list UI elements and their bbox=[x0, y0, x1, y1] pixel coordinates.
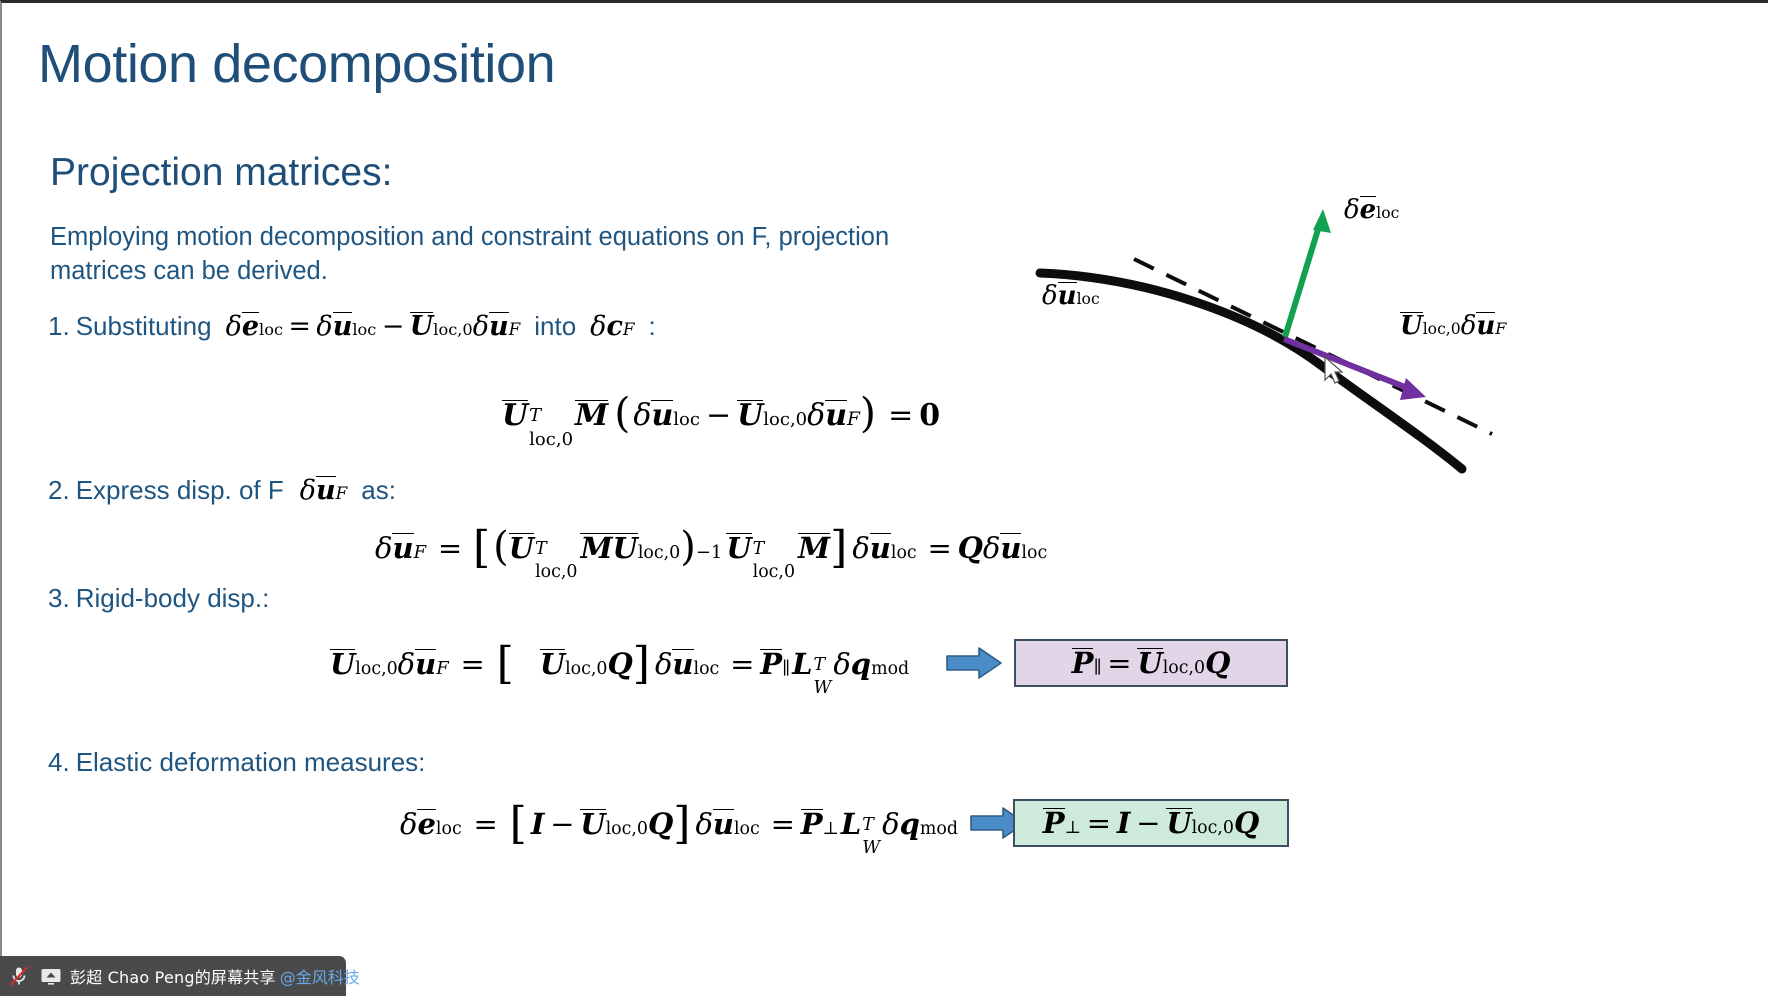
diagram-label-local: δuloc bbox=[1042, 281, 1100, 311]
step-3: 3. Rigid-body disp.: bbox=[48, 583, 269, 614]
tangent-dashed-line bbox=[1134, 259, 1492, 434]
diagram-label-rigid: Uloc,0δuF bbox=[1400, 311, 1506, 341]
step-1-trailing: into bbox=[534, 311, 576, 342]
section-heading: Projection matrices: bbox=[50, 151, 392, 195]
step-1-inline-math-rhs: δcF bbox=[590, 311, 634, 342]
diagram-svg bbox=[1022, 181, 1768, 481]
step-4-label: Elastic deformation measures: bbox=[76, 747, 426, 778]
equation-4: δeloc = [ I − Uloc,0Q ] δuloc = P⊥ LTW δ… bbox=[400, 803, 958, 857]
slide-title: Motion decomposition bbox=[38, 35, 555, 93]
step-2-label: Express disp. of F bbox=[76, 475, 284, 506]
block-arrow-right-1 bbox=[946, 646, 1002, 680]
step-3-number: 3. bbox=[48, 583, 70, 614]
step-1-label: Substituting bbox=[76, 311, 212, 342]
result-parallel-math: P∥ = Uloc,0Q bbox=[1072, 646, 1231, 680]
equation-1: UTloc,0 M ( δuloc − Uloc,0δuF ) = 0 bbox=[502, 395, 940, 448]
step-2-number: 2. bbox=[48, 475, 70, 506]
step-1-inline-math-lhs: δeloc = δuloc − Uloc,0δuF bbox=[226, 311, 521, 342]
step-4-number: 4. bbox=[48, 747, 70, 778]
screen-share-icon[interactable] bbox=[38, 963, 64, 989]
equation-3: Uloc,0δuF = [ Uloc,0Q ] δuloc = P∥ LTW δ… bbox=[330, 643, 909, 697]
diagram-label-elastic: δeloc bbox=[1344, 195, 1399, 225]
step-3-label: Rigid-body disp.: bbox=[76, 583, 270, 614]
intro-paragraph: Employing motion decomposition and const… bbox=[50, 221, 950, 289]
step-2: 2. Express disp. of F δuF as: bbox=[48, 475, 396, 506]
step-1-colon: : bbox=[649, 311, 656, 342]
step-2-inline-math: δuF bbox=[300, 475, 348, 506]
step-1-number: 1. bbox=[48, 311, 70, 342]
equation-2: δuF = [ ( UTloc,0 MUloc,0 )−1 UTloc,0 M … bbox=[375, 527, 1047, 581]
presentation-slide: Motion decomposition Projection matrices… bbox=[0, 0, 1768, 996]
step-2-trailing: as: bbox=[361, 475, 396, 506]
motion-decomposition-diagram: δeloc δuloc Uloc,0δuF bbox=[1022, 181, 1768, 481]
microphone-muted-icon[interactable] bbox=[6, 963, 32, 989]
step-1: 1. Substituting δeloc = δuloc − Uloc,0δu… bbox=[48, 311, 656, 342]
result-box-parallel: P∥ = Uloc,0Q bbox=[1014, 639, 1288, 687]
step-4: 4. Elastic deformation measures: bbox=[48, 747, 425, 778]
elastic-deformation-arrow bbox=[1285, 209, 1331, 337]
share-status-text: 彭超 Chao Peng的屏幕共享 bbox=[70, 964, 276, 988]
result-perp-math: P⊥ = I − Uloc,0Q bbox=[1043, 806, 1260, 840]
result-box-perpendicular: P⊥ = I − Uloc,0Q bbox=[1013, 799, 1289, 847]
company-tag: @金风科技 bbox=[280, 964, 360, 988]
screen-share-banner[interactable]: 彭超 Chao Peng的屏幕共享 @金风科技 bbox=[0, 956, 346, 996]
beam-curve bbox=[1040, 273, 1462, 469]
